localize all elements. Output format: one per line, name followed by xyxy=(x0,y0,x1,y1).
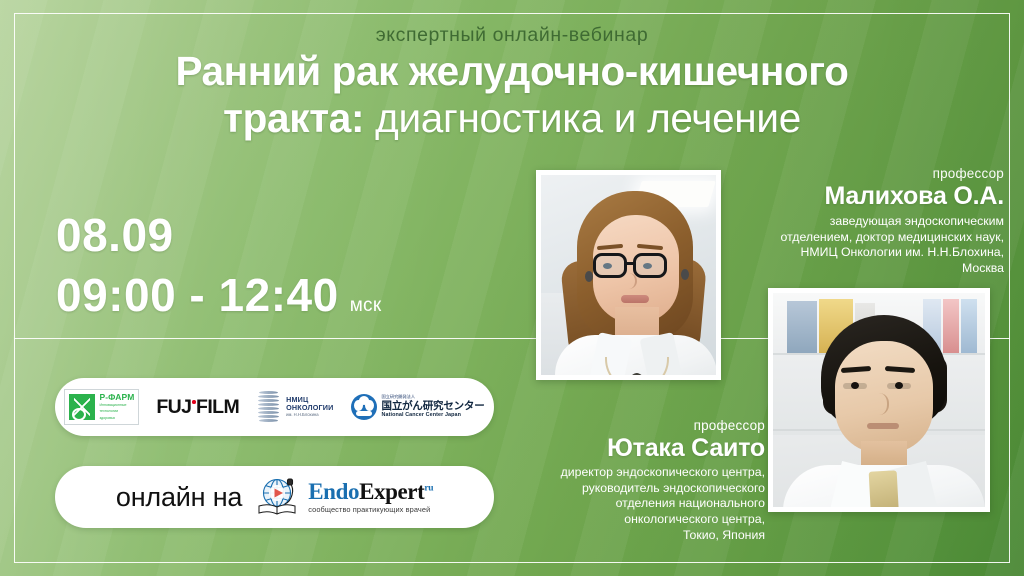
event-kicker: экспертный онлайн-вебинар xyxy=(0,24,1024,47)
endoexpert-logo[interactable]: EndoExpertru сообщество практикующих вра… xyxy=(256,476,433,518)
ncc-japan-icon xyxy=(351,394,377,420)
partner-logo-r-pharm: Р-ФАРМ Инновационные технологии здоровья xyxy=(64,389,139,425)
r-pharm-name: Р-ФАРМ xyxy=(99,393,134,402)
speaker-info-malikhova: профессор Малихова О.А. заведующая эндос… xyxy=(732,166,1004,277)
title-line-2-rest: диагностика и лечение xyxy=(364,95,801,141)
nmic-line-3: им. Н.Н.Блохина xyxy=(286,413,333,417)
nmic-spiral-icon xyxy=(256,390,281,424)
speaker-role: профессор xyxy=(732,166,1004,181)
event-timezone: мск xyxy=(350,295,382,317)
speaker-description-line: отделением, доктор медицинских наук, xyxy=(732,230,1004,246)
r-pharm-tagline-1: Инновационные xyxy=(99,403,134,408)
speaker-name: Ютака Саито xyxy=(520,434,765,462)
online-label: онлайн на xyxy=(116,482,242,513)
speaker-description-line: НМИЦ Онкологии им. Н.Н.Блохина, xyxy=(732,245,1004,261)
title-line-1: Ранний рак желудочно-кишечного xyxy=(40,50,984,93)
event-date: 08.09 xyxy=(56,212,381,258)
event-time: 09:00 - 12:40 xyxy=(56,272,339,318)
title-line-2: тракта: диагностика и лечение xyxy=(40,97,984,140)
page-title: Ранний рак желудочно-кишечного тракта: д… xyxy=(40,50,984,141)
partner-logo-nmic-oncology: НМИЦ ОНКОЛОГИИ им. Н.Н.Блохина xyxy=(256,390,333,424)
event-datetime: 08.09 09:00 - 12:40 мск xyxy=(56,212,381,318)
r-pharm-tagline-3: здоровья xyxy=(99,416,134,421)
speaker-photo-saito xyxy=(768,288,990,512)
speaker-description-line: онкологического центра, xyxy=(520,512,765,528)
event-time-row: 09:00 - 12:40 мск xyxy=(56,272,381,318)
ncc-japan-line-2: 国立がん研究センター xyxy=(382,401,485,412)
speaker-description-line: Москва xyxy=(732,261,1004,277)
fujifilm-red-dot-icon xyxy=(192,400,196,404)
online-platform-bar: онлайн на xyxy=(55,466,494,528)
speaker-photo-malikhova xyxy=(536,170,721,380)
globe-book-play-icon xyxy=(256,476,302,518)
endoexpert-wordmark: EndoExpertru xyxy=(308,480,433,503)
speaker-description-line: руководитель эндоскопического xyxy=(520,481,765,497)
endoexpert-endo: Endo xyxy=(308,479,359,504)
speaker-role: профессор xyxy=(520,418,765,433)
partner-logo-national-cancer-center-japan: 国立研究開発法人 国立がん研究センター National Cancer Cent… xyxy=(351,394,485,420)
r-pharm-tagline-2: технологии xyxy=(99,409,134,414)
partner-logo-fujifilm: FUJFILM xyxy=(156,396,239,419)
r-pharm-icon xyxy=(69,394,95,420)
ncc-japan-line-1: 国立研究開発法人 xyxy=(382,395,485,399)
ncc-japan-line-3: National Cancer Center Japan xyxy=(382,413,485,419)
endoexpert-expert: Expert xyxy=(359,479,424,504)
speaker-description-line: заведующая эндоскопическим xyxy=(732,214,1004,230)
speaker-info-saito: профессор Ютака Саито директор эндоскопи… xyxy=(520,418,765,544)
speaker-name: Малихова О.А. xyxy=(732,182,1004,210)
endoexpert-tld: ru xyxy=(424,484,433,494)
fujifilm-name-part1: FUJ xyxy=(156,396,191,418)
endoexpert-tagline: сообщество практикующих врачей xyxy=(308,506,433,513)
fujifilm-name-part2: FILM xyxy=(196,396,239,418)
speaker-description: заведующая эндоскопическим отделением, д… xyxy=(732,214,1004,277)
speaker-description-line: директор эндоскопического центра, xyxy=(520,465,765,481)
partners-bar: Р-ФАРМ Инновационные технологии здоровья… xyxy=(55,378,494,436)
speaker-description-line: Токио, Япония xyxy=(520,528,765,544)
nmic-line-2: ОНКОЛОГИИ xyxy=(286,404,333,412)
speaker-description-line: отделения национального xyxy=(520,496,765,512)
title-line-2-bold: тракта: xyxy=(223,95,364,141)
speaker-description: директор эндоскопического центра, руково… xyxy=(520,465,765,544)
